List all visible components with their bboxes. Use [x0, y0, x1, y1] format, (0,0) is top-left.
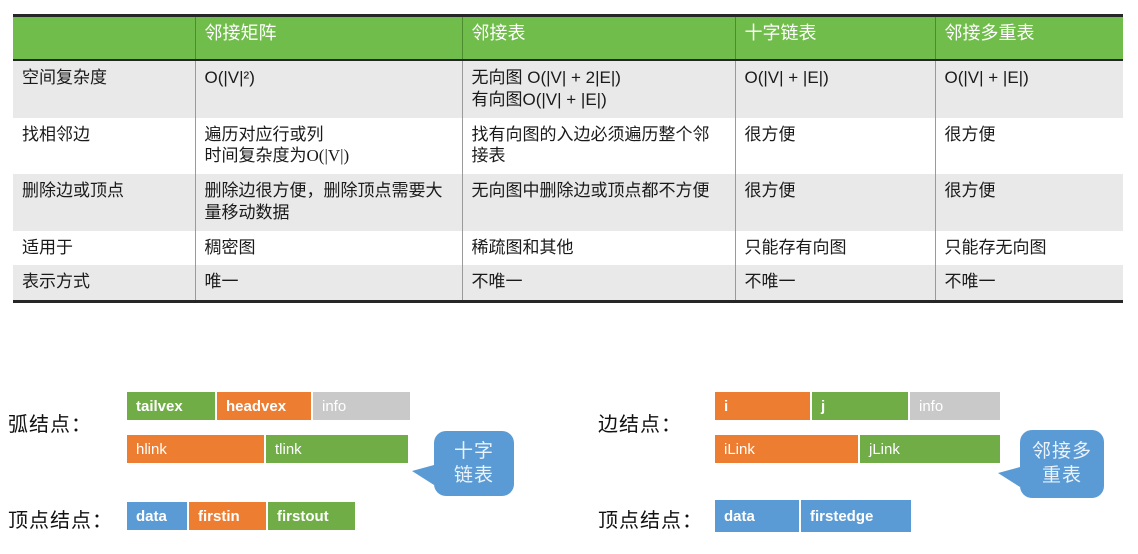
table-row: 空间复杂度 O(|V|²) 无向图 O(|V| + 2|E|)有向图O(|V| …: [13, 60, 1123, 118]
header-cell-adjacency-matrix: 邻接矩阵: [195, 16, 462, 61]
row-label: 表示方式: [13, 265, 195, 301]
row-cell: 很方便: [935, 118, 1123, 175]
field-tlink: tlink: [266, 435, 408, 463]
field-tailvex: tailvex: [127, 392, 217, 420]
row-cell: 无向图中删除边或顶点都不方便: [462, 174, 735, 231]
row-cell: 很方便: [735, 118, 935, 175]
row-cell: O(|V|²): [195, 60, 462, 118]
field-firstedge: firstedge: [801, 500, 911, 532]
table-row: 表示方式 唯一 不唯一 不唯一 不唯一: [13, 265, 1123, 301]
row-cell: O(|V| + |E|): [935, 60, 1123, 118]
row-label: 适用于: [13, 231, 195, 266]
row-cell: 不唯一: [735, 265, 935, 301]
row-cell: 唯一: [195, 265, 462, 301]
vertex-node-label: 顶点结点：: [598, 504, 703, 533]
row-cell: 只能存无向图: [935, 231, 1123, 266]
edge-node-label: 边结点：: [598, 408, 682, 437]
header-cell-blank: [13, 16, 195, 61]
callout-text: 邻接多重表: [1032, 440, 1092, 488]
field-headvex: headvex: [217, 392, 313, 420]
field-data: data: [127, 502, 189, 530]
header-cell-adjacency-multilist: 邻接多重表: [935, 16, 1123, 61]
row-cell: 删除边很方便，删除顶点需要大量移动数据: [195, 174, 462, 231]
comparison-table: 邻接矩阵 邻接表 十字链表 邻接多重表 空间复杂度 O(|V|²) 无向图 O(…: [13, 14, 1123, 303]
field-jlink: jLink: [860, 435, 1000, 463]
table-header-row: 邻接矩阵 邻接表 十字链表 邻接多重表: [13, 16, 1123, 61]
table-row: 找相邻边 遍历对应行或列时间复杂度为O(|V|) 找有向图的入边必须遍历整个邻接…: [13, 118, 1123, 175]
row-cell: 不唯一: [462, 265, 735, 301]
row-label: 找相邻边: [13, 118, 195, 175]
vertex-node-row: data firstedge: [715, 500, 911, 532]
callout-text: 十字链表: [454, 440, 494, 488]
field-hlink: hlink: [127, 435, 266, 463]
row-cell: 找有向图的入边必须遍历整个邻接表: [462, 118, 735, 175]
row-cell: 无向图 O(|V| + 2|E|)有向图O(|V| + |E|): [462, 60, 735, 118]
table-header: 邻接矩阵 邻接表 十字链表 邻接多重表: [13, 16, 1123, 61]
field-firstin: firstin: [189, 502, 268, 530]
header-cell-adjacency-list: 邻接表: [462, 16, 735, 61]
row-cell: 很方便: [935, 174, 1123, 231]
callout-orthogonal-list: 十字链表: [434, 431, 514, 496]
row-cell: O(|V| + |E|): [735, 60, 935, 118]
field-info: info: [910, 392, 1000, 420]
header-cell-orthogonal-list: 十字链表: [735, 16, 935, 61]
edge-node-row-1: i j info: [715, 392, 1000, 420]
row-label: 删除边或顶点: [13, 174, 195, 231]
vertex-node-label: 顶点结点：: [8, 504, 113, 533]
row-cell: 遍历对应行或列时间复杂度为O(|V|): [195, 118, 462, 175]
callout-adjacency-multilist: 邻接多重表: [1020, 430, 1104, 498]
field-data: data: [715, 500, 801, 532]
row-cell: 只能存有向图: [735, 231, 935, 266]
callout-tail-icon: [998, 467, 1020, 487]
vertex-node-row: data firstin firstout: [127, 502, 355, 530]
arc-node-row-1: tailvex headvex info: [127, 392, 410, 420]
table-body: 空间复杂度 O(|V|²) 无向图 O(|V| + 2|E|)有向图O(|V| …: [13, 60, 1123, 302]
table-row: 适用于 稠密图 稀疏图和其他 只能存有向图 只能存无向图: [13, 231, 1123, 266]
row-cell: 不唯一: [935, 265, 1123, 301]
row-cell: 稠密图: [195, 231, 462, 266]
adjacency-multilist-diagram: 边结点： i j info iLink jLink 顶点结点： data fir…: [580, 378, 1138, 554]
callout-tail-icon: [412, 465, 434, 485]
edge-node-row-2: iLink jLink: [715, 435, 1000, 463]
field-ilink: iLink: [715, 435, 860, 463]
row-cell: 很方便: [735, 174, 935, 231]
arc-node-row-2: hlink tlink: [127, 435, 408, 463]
field-firstout: firstout: [268, 502, 355, 530]
table-row: 删除边或顶点 删除边很方便，删除顶点需要大量移动数据 无向图中删除边或顶点都不方…: [13, 174, 1123, 231]
arc-node-label: 弧结点：: [8, 408, 92, 437]
orthogonal-list-diagram: 弧结点： tailvex headvex info hlink tlink 顶点…: [0, 378, 560, 554]
row-label: 空间复杂度: [13, 60, 195, 118]
field-info: info: [313, 392, 410, 420]
field-i: i: [715, 392, 812, 420]
field-j: j: [812, 392, 910, 420]
row-cell: 稀疏图和其他: [462, 231, 735, 266]
